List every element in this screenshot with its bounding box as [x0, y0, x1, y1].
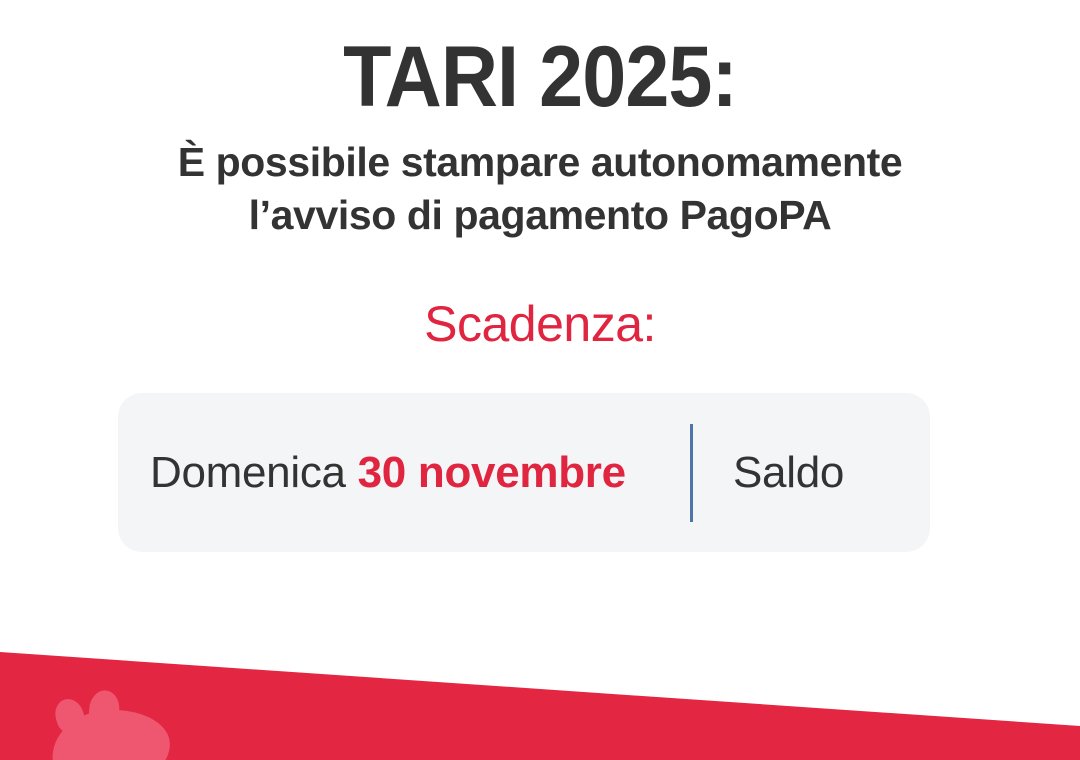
- page-title: TARI 2025:: [43, 34, 1037, 120]
- paw-watermark-icon: [49, 706, 172, 760]
- subtitle-line-2: l’avviso di pagamento PagoPA: [0, 189, 1080, 242]
- card-divider: [690, 424, 693, 522]
- deadline-card: Domenica 30 novembre Saldo: [118, 393, 930, 552]
- payment-type-label: Saldo: [733, 448, 844, 498]
- poster-canvas: TARI 2025: È possibile stampare autonoma…: [0, 0, 1080, 760]
- poster-subtitle: È possibile stampare autonomamente l’avv…: [0, 136, 1080, 243]
- bottom-red-band: [0, 650, 1080, 760]
- heading-block: TARI 2025: È possibile stampare autonoma…: [0, 34, 1080, 243]
- deadline-heading: Scadenza:: [0, 295, 1080, 353]
- subtitle-line-1: È possibile stampare autonomamente: [0, 136, 1080, 189]
- deadline-date-value: 30 novembre: [358, 448, 626, 497]
- deadline-date: Domenica 30 novembre: [150, 448, 626, 498]
- deadline-weekday: Domenica: [150, 448, 358, 497]
